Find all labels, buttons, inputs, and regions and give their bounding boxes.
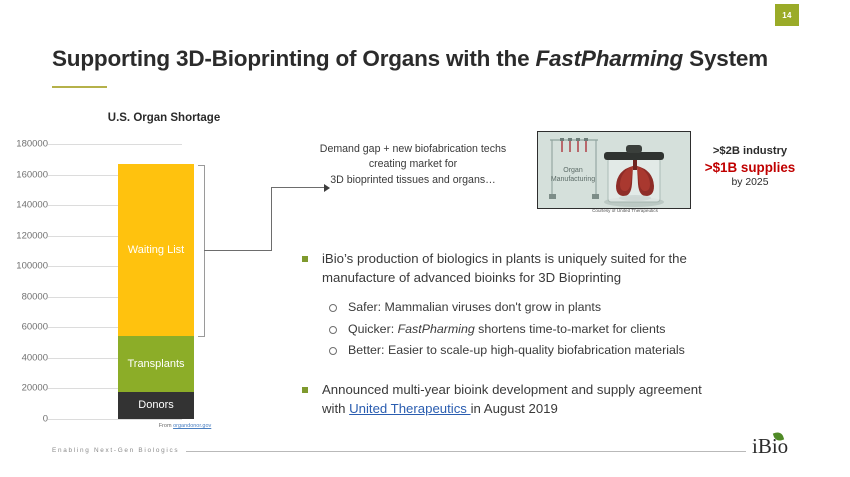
chart-source-prefix: From bbox=[159, 423, 173, 429]
svg-text:Manufacturing: Manufacturing bbox=[551, 176, 595, 183]
bar-segment-transplants: Transplants bbox=[118, 336, 194, 392]
page-title-italic: FastPharming bbox=[535, 46, 683, 71]
y-tick-160000: 160000 bbox=[4, 169, 48, 180]
title-underline-rule bbox=[52, 86, 107, 88]
logo-text-pre: iB bbox=[752, 434, 772, 458]
bar-segment-waiting-list-label: Waiting List bbox=[128, 244, 184, 257]
bullet-agreement-suffix: in August 2019 bbox=[471, 401, 558, 416]
photo-caption: Courtesy of United Therapeutics bbox=[555, 208, 695, 213]
bar-segment-donors-label: Donors bbox=[138, 399, 173, 412]
page-number-badge: 14 bbox=[775, 4, 799, 26]
stat-supplies: >$1B supplies bbox=[686, 159, 814, 177]
page-number-label: 14 bbox=[782, 11, 792, 20]
united-therapeutics-link[interactable]: United Therapeutics bbox=[349, 401, 470, 416]
connector-vertical bbox=[271, 187, 272, 251]
y-tick-0: 0 bbox=[4, 413, 48, 424]
bar-segment-transplants-label: Transplants bbox=[127, 358, 184, 371]
sub-bullet-quicker-text: shortens time-to-market for clients bbox=[475, 322, 666, 336]
y-tick-100000: 100000 bbox=[4, 261, 48, 272]
page-title-part2: System bbox=[683, 46, 768, 71]
bullet-agreement-prefix: with bbox=[322, 401, 349, 416]
chart-source-link[interactable]: organdonor.gov bbox=[173, 423, 211, 429]
callout-line-1: Demand gap + new biofabrication techs bbox=[296, 142, 530, 157]
sub-bullet-quicker-label: Quicker: bbox=[348, 322, 394, 336]
callout-line-3: 3D bioprinted tissues and organs… bbox=[296, 173, 530, 188]
chart-source-note: From organdonor.gov bbox=[110, 423, 260, 429]
circle-bullet-icon bbox=[329, 347, 337, 355]
circle-bullet-icon bbox=[329, 326, 337, 334]
stat-timeframe: by 2025 bbox=[686, 176, 814, 190]
bullet-list: iBio’s production of biologics in plants… bbox=[300, 250, 800, 421]
stat-industry: >$2B industry bbox=[686, 144, 814, 159]
footer-tagline: Enabling Next-Gen Biologics bbox=[52, 447, 179, 454]
bullet-production-line-1: iBio’s production of biologics in plants… bbox=[322, 251, 687, 266]
y-tick-80000: 80000 bbox=[4, 291, 48, 302]
bullet-agreement-line-1: Announced multi-year bioink development … bbox=[322, 382, 702, 397]
y-tick-60000: 60000 bbox=[4, 322, 48, 333]
sub-bullet-better-label: Better: bbox=[348, 343, 385, 357]
footer-divider bbox=[186, 451, 746, 452]
chart-plot-area: 180000 160000 140000 120000 100000 80000… bbox=[48, 134, 273, 419]
sub-bullet-better-text: Easier to scale-up high-quality biofabri… bbox=[385, 343, 685, 357]
sub-bullet-quicker-italic: FastPharming bbox=[398, 322, 475, 336]
sub-bullet-list: Safer: Mammalian viruses don't grow in p… bbox=[328, 297, 800, 361]
circle-bullet-icon bbox=[329, 304, 337, 312]
market-stats: >$2B industry >$1B supplies by 2025 bbox=[686, 144, 814, 190]
y-tick-140000: 140000 bbox=[4, 200, 48, 211]
page-title-part1: Supporting 3D-Bioprinting of Organs with… bbox=[52, 46, 535, 71]
gridline-180000 bbox=[48, 144, 182, 145]
sub-bullet-quicker: Quicker: FastPharming shortens time-to-m… bbox=[328, 319, 800, 340]
sub-bullet-safer-text: Mammalian viruses don't grow in plants bbox=[381, 300, 601, 314]
connector-horizontal-lower bbox=[204, 250, 272, 251]
sub-bullet-safer-label: Safer: bbox=[348, 300, 381, 314]
square-bullet-icon bbox=[302, 256, 308, 262]
market-callout-text: Demand gap + new biofabrication techs cr… bbox=[296, 142, 530, 188]
bullet-item-production: iBio’s production of biologics in plants… bbox=[300, 250, 800, 287]
y-tick-120000: 120000 bbox=[4, 230, 48, 241]
bullet-production-line-2: manufacture of advanced bioinks for 3D B… bbox=[322, 270, 621, 285]
bar-segment-donors: Donors bbox=[118, 392, 194, 419]
y-tick-20000: 20000 bbox=[4, 383, 48, 394]
bar-segment-waiting-list: Waiting List bbox=[118, 164, 194, 336]
organ-manufacturing-illustration: Organ Manufacturing bbox=[538, 132, 690, 208]
svg-text:Organ: Organ bbox=[563, 167, 583, 174]
chart-title: U.S. Organ Shortage bbox=[74, 112, 254, 124]
square-bullet-icon bbox=[302, 387, 308, 393]
organ-manufacturing-photo: Organ Manufacturing bbox=[537, 131, 691, 209]
y-tick-180000: 180000 bbox=[4, 139, 48, 150]
waiting-list-bracket bbox=[198, 165, 205, 337]
y-tick-40000: 40000 bbox=[4, 352, 48, 363]
bullet-item-agreement: Announced multi-year bioink development … bbox=[300, 381, 800, 418]
page-title: Supporting 3D-Bioprinting of Organs with… bbox=[52, 46, 768, 72]
ibio-logo: iBio bbox=[752, 434, 788, 459]
organ-shortage-chart: U.S. Organ Shortage 180000 160000 140000… bbox=[48, 112, 273, 437]
sub-bullet-better: Better: Easier to scale-up high-quality … bbox=[328, 340, 800, 361]
sub-bullet-safer: Safer: Mammalian viruses don't grow in p… bbox=[328, 297, 800, 318]
callout-line-2: creating market for bbox=[296, 157, 530, 172]
